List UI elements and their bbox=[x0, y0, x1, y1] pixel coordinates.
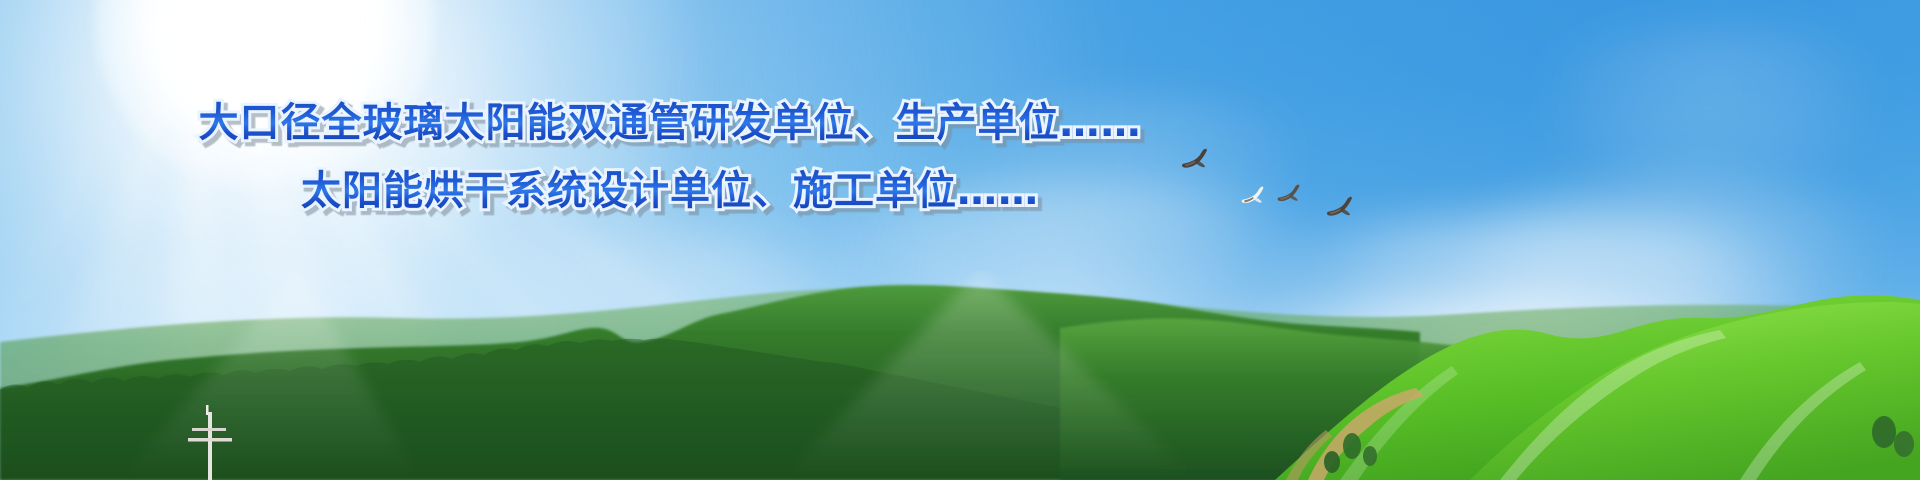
headline-line-1-text: 大口径全玻璃太阳能双通管研发单位、生产单位…… bbox=[199, 100, 1142, 146]
headline-line-2: 太阳能烘干系统设计单位、施工单位…… 太阳能烘干系统设计单位、施工单位…… 太阳… bbox=[0, 160, 1340, 222]
landscape bbox=[0, 270, 1920, 480]
hero-banner: 大口径全玻璃太阳能双通管研发单位、生产单位…… 大口径全玻璃太阳能双通管研发单位… bbox=[0, 0, 1920, 480]
headline-line-1: 大口径全玻璃太阳能双通管研发单位、生产单位…… 大口径全玻璃太阳能双通管研发单位… bbox=[0, 92, 1340, 154]
headline-line-2-text: 太阳能烘干系统设计单位、施工单位…… bbox=[301, 168, 1039, 214]
headline-block: 大口径全玻璃太阳能双通管研发单位、生产单位…… 大口径全玻璃太阳能双通管研发单位… bbox=[0, 92, 1340, 222]
